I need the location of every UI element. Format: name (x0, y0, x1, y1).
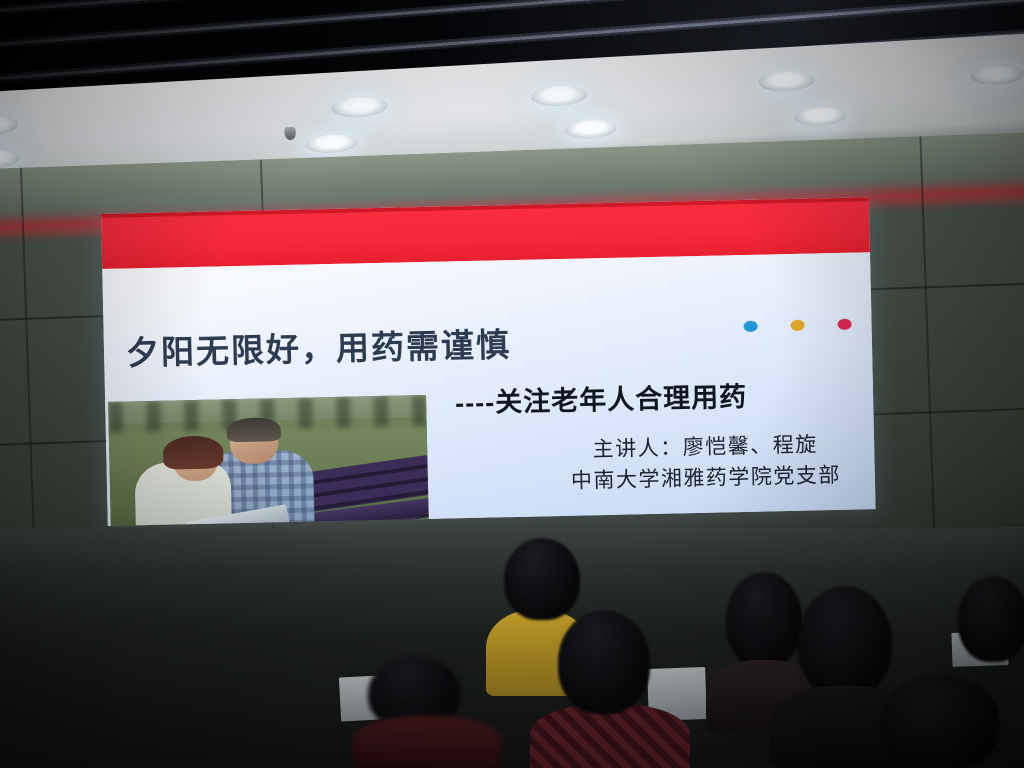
sprinkler-head-2 (284, 127, 296, 141)
slide-subtitle: ----关注老年人合理用药 (455, 375, 748, 420)
audience-head-1 (504, 538, 580, 620)
audience-foreground (0, 528, 1024, 768)
amber-dot-icon (790, 320, 804, 331)
slide-decorative-dots (743, 319, 851, 332)
photo-woman-hair (163, 435, 224, 469)
downlight-5 (531, 84, 588, 107)
downlight-9 (970, 64, 1024, 86)
downlight-7 (758, 70, 815, 93)
downlight-4 (305, 133, 358, 154)
audience-head-5 (958, 576, 1024, 662)
red-dot-icon (837, 319, 851, 330)
audience-head-3 (726, 572, 802, 668)
slide-body: 夕阳无限好，用药需谨慎 ----关注老年人合理用药 (102, 252, 875, 526)
downlight-1 (0, 114, 18, 137)
slide-surface: 夕阳无限好，用药需谨慎 ----关注老年人合理用药 (101, 197, 876, 526)
downlight-2 (0, 148, 20, 170)
presenter-organization: 中南大学湘雅药学院党支部 (571, 459, 842, 495)
audience-torso-6 (352, 716, 502, 768)
blue-dot-icon (743, 321, 757, 332)
projection-screen[interactable]: 夕阳无限好，用药需谨慎 ----关注老年人合理用药 (101, 197, 876, 526)
audience-head-2 (558, 610, 650, 714)
downlight-6 (564, 119, 617, 140)
slide-presenter-block: 主讲人：廖恺馨、程旋 中南大学湘雅药学院党支部 (570, 429, 841, 496)
audience-head-7 (880, 674, 1000, 768)
downlight-8 (794, 106, 847, 127)
slide-photo-elderly-couple (108, 395, 430, 526)
photo-man-hair (226, 417, 281, 442)
lecture-hall-photo: 夕阳无限好，用药需谨慎 ----关注老年人合理用药 (0, 0, 1024, 768)
downlight-3 (331, 96, 388, 119)
slide-title: 夕阳无限好，用药需谨慎 (125, 318, 511, 374)
audience-head-4 (798, 586, 892, 698)
